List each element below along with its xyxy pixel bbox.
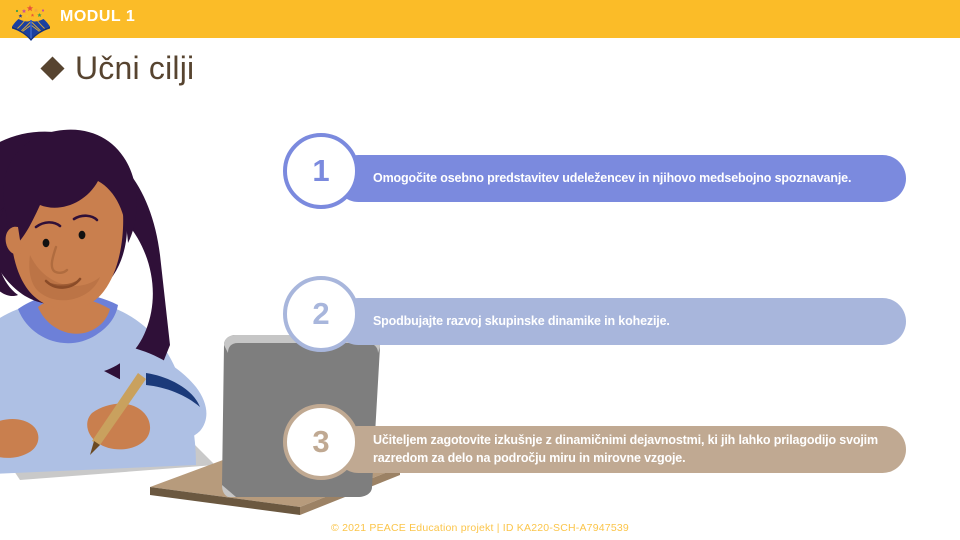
goal-number-badge-3: 3	[283, 404, 359, 480]
goal-number-badge-2: 2	[283, 276, 359, 352]
goal-text-3: Učiteljem zagotovite izkušnje z dinamičn…	[335, 432, 906, 467]
diamond-bullet-icon	[40, 56, 64, 80]
header-bar	[0, 0, 960, 38]
open-book-stars-logo-icon	[8, 2, 54, 44]
goal-bar-3: Učiteljem zagotovite izkušnje z dinamičn…	[335, 426, 906, 473]
goal-text-2: Spodbujajte razvoj skupinske dinamike in…	[335, 313, 696, 330]
goal-bar-2: Spodbujajte razvoj skupinske dinamike in…	[335, 298, 906, 345]
goal-number-badge-1: 1	[283, 133, 359, 209]
footer-credit: © 2021 PEACE Education projekt | ID KA22…	[0, 522, 960, 534]
page-title-text: Učni cilji	[75, 52, 194, 84]
goal-bar-1: Omogočite osebno predstavitev udeležence…	[335, 155, 906, 202]
module-label: MODUL 1	[60, 8, 135, 26]
slide-canvas: MODUL 1 Učni cilji	[0, 0, 960, 540]
goal-text-1: Omogočite osebno predstavitev udeležence…	[335, 170, 877, 187]
page-title: Učni cilji	[44, 52, 194, 84]
